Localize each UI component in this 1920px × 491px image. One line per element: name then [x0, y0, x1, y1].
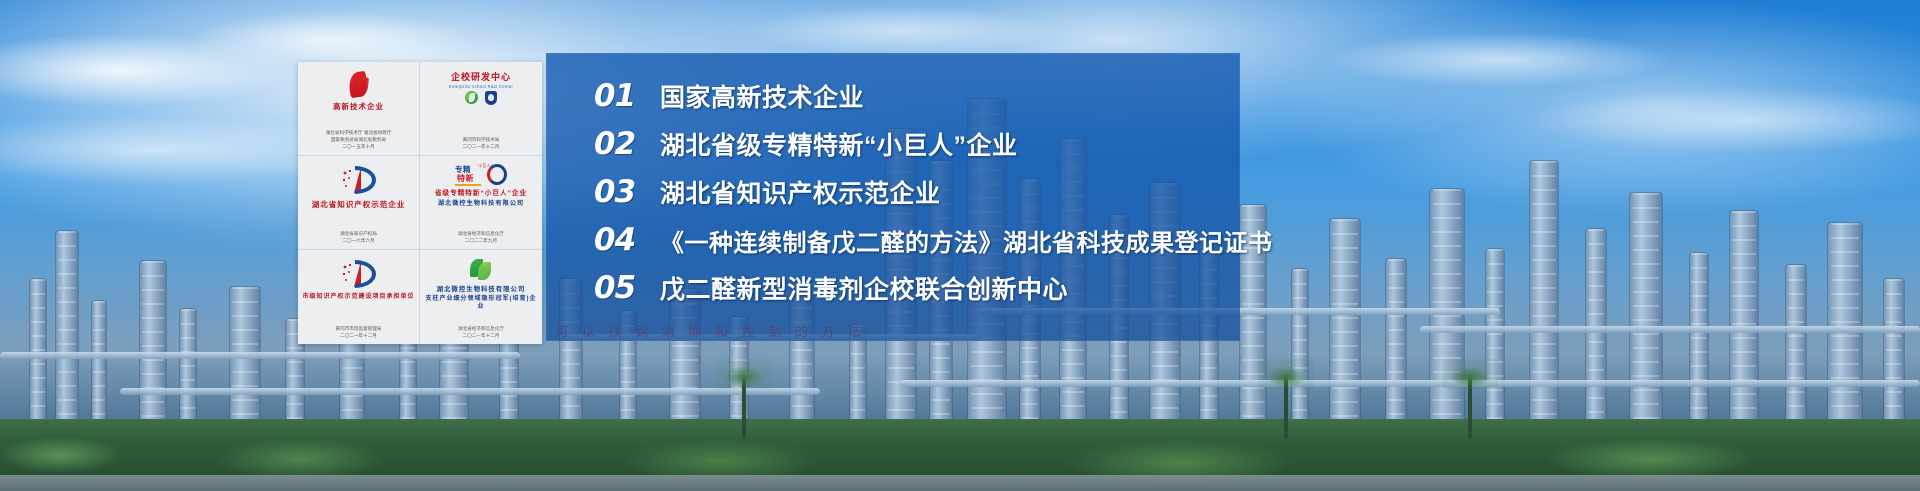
honor-number: 04	[594, 222, 660, 258]
flame-emblem	[349, 67, 369, 101]
sail-emblem	[342, 255, 376, 293]
certificate-card[interactable]: 专精“小巨人” 特新 省级专精特新“小巨人”企业 湖北微控生物科技有限公司 湖北…	[420, 156, 542, 250]
certificate-issuer: 湖北省经济和信息化厅 二〇二一年十二月	[458, 325, 504, 341]
weikong-logo	[470, 255, 492, 285]
sail-emblem	[342, 161, 376, 199]
honor-label: 湖北省级专精特新“小巨人”企业	[660, 126, 1018, 162]
certificate-card[interactable]: 湖北微控生物科技有限公司 支柱产业细分领域隐形冠军(培育)企业 湖北省经济和信息…	[420, 250, 542, 344]
banner-stage: 全 都 可 以 找 到 消 除 和 控 制 的 方 法 高新技术企业 湖北省科学…	[0, 0, 1920, 491]
honor-item[interactable]: 02 湖北省级专精特新“小巨人”企业	[594, 125, 1240, 163]
certificate-issuer: 黄冈市市场监督管理局 二〇二一年十二月	[336, 325, 382, 341]
certificate-title: 市级知识产权示范建设项目承担单位	[302, 294, 414, 302]
certificate-company: 湖北微控生物科技有限公司	[438, 200, 524, 208]
honor-number: 02	[594, 126, 660, 162]
palm-tree-icon	[1284, 375, 1288, 439]
certificate-issuer: 湖北省经济和信息化厅 二〇二二年九月	[458, 230, 504, 246]
certificate-issuer: 湖北省科学技术厅 湖北省财政厅 国家税务总局湖北省税务局 二〇一五年十月	[326, 129, 392, 152]
honor-item[interactable]: 05 戊二醛新型消毒剂企校联合创新中心	[594, 269, 1240, 307]
foreground-road	[0, 475, 1920, 491]
honor-label: 湖北省知识产权示范企业	[660, 174, 941, 210]
honor-item[interactable]: 04 《一种连续制备戊二醛的方法》湖北省科技成果登记证书	[594, 221, 1240, 259]
certificate-card[interactable]: 湖北省知识产权示范企业 湖北省知识产权局 二〇一六年六月	[298, 156, 420, 250]
university-shield-icon	[485, 91, 497, 105]
certificate-title: 高新技术企业	[333, 102, 384, 111]
honor-number: 03	[594, 174, 660, 210]
certificate-grid: 高新技术企业 湖北省科学技术厅 湖北省财政厅 国家税务总局湖北省税务局 二〇一五…	[298, 62, 542, 344]
honor-number: 05	[594, 270, 660, 306]
certificate-title: 支柱产业细分领域隐形冠军(培育)企业	[423, 296, 539, 311]
leaf-logo-icon	[465, 91, 478, 104]
certificate-card[interactable]: 高新技术企业 湖北省科学技术厅 湖北省财政厅 国家税务总局湖北省税务局 二〇一五…	[298, 62, 420, 156]
honor-item[interactable]: 01 国家高新技术企业	[594, 77, 1240, 115]
certificate-issuer: 湖北省知识产权局 二〇一六年六月	[340, 230, 377, 246]
honor-label: 国家高新技术企业	[660, 78, 864, 114]
rd-center-emblem: 企校研发中心 Enterprise school R&D Center	[449, 67, 514, 107]
certificate-title: 企校研发中心	[451, 70, 511, 83]
honor-item[interactable]: 03 湖北省知识产权示范企业	[594, 173, 1240, 211]
green-leaf-icon	[470, 259, 492, 281]
palm-tree-icon	[742, 375, 746, 439]
honor-label: 戊二醛新型消毒剂企校联合创新中心	[660, 270, 1068, 306]
certificate-company: 湖北微控生物科技有限公司	[437, 286, 526, 294]
honor-label: 《一种连续制备戊二醛的方法》湖北省科技成果登记证书	[660, 223, 1273, 258]
certificate-title: 省级专精特新“小巨人”企业	[435, 190, 527, 198]
certificate-card[interactable]: 市级知识产权示范建设项目承担单位 黄冈市市场监督管理局 二〇二一年十二月	[298, 250, 420, 344]
zhuanjing-texin-emblem: 专精“小巨人” 特新	[455, 161, 507, 189]
palm-tree-icon	[1468, 375, 1472, 439]
certificate-title: 湖北省知识产权示范企业	[312, 200, 406, 209]
certificate-card[interactable]: 企校研发中心 Enterprise school R&D Center 黄冈市科…	[420, 62, 542, 156]
honors-list: 01 国家高新技术企业 02 湖北省级专精特新“小巨人”企业 03 湖北省知识产…	[546, 53, 1240, 341]
certificate-subtitle: Enterprise school R&D Center	[449, 84, 514, 89]
honor-number: 01	[594, 78, 660, 114]
certificate-issuer: 黄冈市科学技术局 二〇二一年十二月	[463, 136, 500, 152]
